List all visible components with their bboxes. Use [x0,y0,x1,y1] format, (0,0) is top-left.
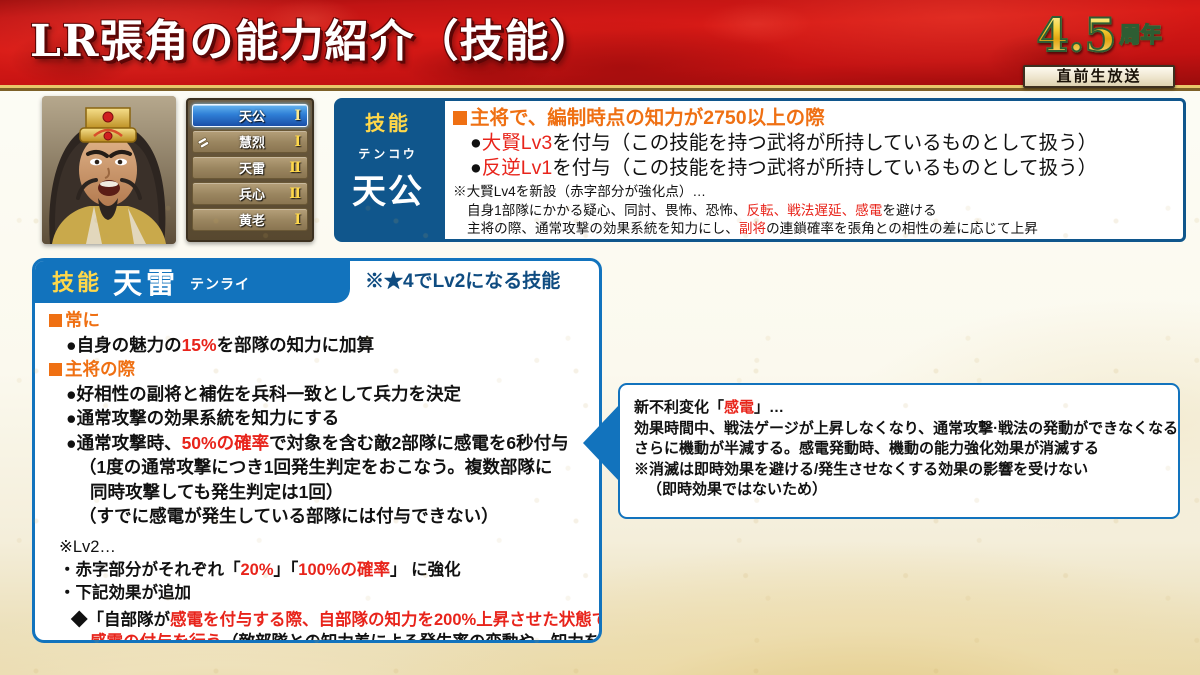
s1-pre: ●自身の魅力の [66,335,182,355]
bullet-dot-icon: ● [470,132,482,154]
tenrai-subtitle: ※★4でLv2になる技能 [365,267,560,297]
skill-list-item-kourou[interactable]: 黄老 Ⅰ [192,208,308,231]
orange-square-icon [453,111,467,125]
portrait-illustration [42,96,176,244]
tenrai-kana: テンライ [190,274,250,294]
tenkou-note-3-red: 副将 [739,221,766,236]
s2c-red: 50%の確率 [182,433,270,453]
skill-name: 慧烈 [193,132,307,151]
tenrai-diamond-line-2: 感電の付与を行う（敵部隊との知力差による発生率の変動や、知力を条件 [49,631,589,643]
tenkou-bullet-2-rest: を付与（この技能を持つ武将が所持しているものとして扱う） [552,157,1097,179]
tenkou-detail-panel: 主将で、編制時点の知力が2750以上の際 ●大賢Lv3を付与（この技能を持つ武将… [442,98,1186,242]
tenrai-section2-line-3: ●通常攻撃時、50%の確率で対象を含む敵2部隊に感電を6秒付与 [49,431,589,456]
kanden-1-post: 」… [754,399,784,416]
dl2-post: （敵部隊との知力差による発生率の変動や、知力を条件 [222,633,602,643]
tenkou-note-2b: を避ける [882,203,936,218]
tenkou-note-2: 自身1部隊にかかる疑心、同討、畏怖、恐怖、反転、戦法遅延、感電を避ける [453,202,1175,221]
kanden-1-pre: 新不利変化「 [634,399,724,416]
page-title: LR張角の能力紹介（技能） [30,11,595,73]
skill-level: Ⅱ [289,160,300,176]
anniversary-subtitle: 直前生放送 [1023,65,1175,88]
lv2a-mid: 」「 [274,561,299,579]
tenkou-kana: テンコウ [358,145,418,162]
kanden-line-1: 新不利変化「感電」… [634,398,1178,419]
skill-list[interactable]: 天公 Ⅰ 慧烈 Ⅰ 天雷 Ⅱ 兵心 Ⅱ 黄老 Ⅰ [186,98,314,242]
skill-level: Ⅰ [294,212,300,228]
anniversary-kanji: 周年 [1120,24,1162,46]
skill-level: Ⅰ [294,108,300,124]
tenkou-bullet-1-rest: を付与（この技能を持つ武将が所持しているものとして扱う） [552,132,1097,154]
skill-list-item-tenrai[interactable]: 天雷 Ⅱ [192,156,308,179]
skill-level: Ⅰ [294,134,300,150]
lv2a-pre: ・赤字部分がそれぞれ「 [59,561,241,579]
tenrai-detail-panel: 技能 天雷 テンライ ※★4でLv2になる技能 常に ●自身の魅力の15%を部隊… [32,258,602,643]
dl1-pre: ◆「自部隊が [71,611,170,629]
tenkou-note-3: 主将の際、通常攻撃の効果系統を知力にし、副将の連鎖確率を張角との相性の差に応じて… [453,220,1175,239]
tenrai-section1-head-row: 常に [49,308,589,333]
skill-list-item-tenkou[interactable]: 天公 Ⅰ [192,104,308,127]
tenrai-lv2-line-2: ・下記効果が追加 [49,582,589,605]
kanden-line-3: さらに機動が半減する。感電発動時、機動の能力強化効果が消滅する [634,439,1178,460]
slide-root: LR張角の能力紹介（技能） 4.5 周年 直前生放送 [0,0,1200,675]
tenrai-header: 技能 天雷 テンライ [32,258,350,303]
s2b-pre: ●通常攻撃の効果系統を知力にする [66,408,339,428]
kanden-line-5: （即時効果ではないため） [634,480,1178,501]
scroll-icon [197,136,210,148]
s2c-post: で対象を含む敵2部隊に感電を6秒付与 [269,433,568,453]
tenkou-note-3a: 主将の際、通常攻撃の効果系統を知力にし、 [467,221,739,236]
tenrai-section1-line-1: ●自身の魅力の15%を部隊の知力に加算 [49,333,589,358]
tenrai-section2-line-2: ●通常攻撃の効果系統を知力にする [49,406,589,431]
kanden-line-4: ※消滅は即時効果を避ける/発生させなくする効果の影響を受けない [634,460,1178,481]
dl1-red: 感電を付与する際、自部隊の知力を200%上昇させた状態で [170,611,602,629]
tenrai-diamond-line-1: ◆「自部隊が感電を付与する際、自部隊の知力を200%上昇させた状態で [49,609,589,632]
tenkou-bullet-2-red: 反逆Lv1 [482,157,552,179]
tenkou-heading-row: 主将で、編制時点の知力が2750以上の際 [453,106,1175,131]
tenrai-section2-sub-2: 同時攻撃しても発生判定は1回） [49,480,589,505]
skill-name: 黄老 [193,210,307,229]
tenkou-heading: 主将で、編制時点の知力が2750以上の際 [470,106,825,131]
lv2a-red2: 100%の確率 [298,561,390,579]
tenrai-section2-sub-1: （1度の通常攻撃につき1回発生判定をおこなう。複数部隊に [49,455,589,480]
tenkou-note-3b: の連鎖確率を張角との相性の差に応じて上昇 [766,221,1038,236]
orange-square-icon [49,363,62,376]
orange-square-icon [49,314,62,327]
skill-level: Ⅱ [289,186,300,202]
tenrai-name: 天雷 [113,260,179,302]
tenkou-skill-tag: 技能 テンコウ 天公 [334,98,442,242]
tenkou-name: 天公 [352,164,424,213]
s2a-pre: ●好相性の副将と補佐を兵科一致として兵力を決定 [66,384,461,404]
left-arrow-icon [583,405,619,481]
bullet-dot-icon: ● [470,157,482,179]
tenrai-lv2-line-1: ・赤字部分がそれぞれ「20%」「100%の確率」 に強化 [49,559,589,582]
lv2a-post: 」 に強化 [390,561,461,579]
tenrai-section2-head-row: 主将の際 [49,357,589,382]
tenrai-lv2-head: ※Lv2… [49,536,589,559]
tenrai-body: 常に ●自身の魅力の15%を部隊の知力に加算 主将の際 ●好相性の副将と補佐を兵… [35,306,599,640]
skill-name: 天公 [193,106,307,125]
s1-red: 15% [182,335,217,355]
kanden-1-red: 感電 [724,399,754,416]
tenrai-section2-sub-3: （すでに感電が発生している部隊には付与できない） [49,504,589,529]
tenkou-bullet-1: ●大賢Lv3を付与（この技能を持つ武将が所持しているものとして扱う） [453,131,1175,156]
skill-list-item-keiretsu[interactable]: 慧烈 Ⅰ [192,130,308,153]
tenkou-note-2a: 自身1部隊にかかる疑心、同討、畏怖、恐怖、 [467,203,746,218]
skill-list-item-heishin[interactable]: 兵心 Ⅱ [192,182,308,205]
lv2a-red1: 20% [241,561,274,579]
s2c-pre: ●通常攻撃時、 [66,433,182,453]
tenrai-tag-label: 技能 [52,265,102,297]
kanden-callout-box: 新不利変化「感電」… 効果時間中、戦法ゲージが上昇しなくなり、通常攻撃·戦法の発… [618,383,1180,519]
s1-post: を部隊の知力に加算 [217,335,375,355]
tenkou-note-2-red: 反転、戦法遅延、感電 [746,203,882,218]
character-portrait [42,96,176,244]
tenkou-tag-label: 技能 [365,107,411,136]
dl2-red: 感電の付与を行う [90,633,222,643]
kanden-line-2: 効果時間中、戦法ゲージが上昇しなくなり、通常攻撃·戦法の発動ができなくなる [634,419,1178,440]
tenkou-bullet-2: ●反逆Lv1を付与（この技能を持つ武将が所持しているものとして扱う） [453,156,1175,181]
tenkou-bullet-1-red: 大賢Lv3 [482,132,552,154]
tenrai-section2-head: 主将の際 [65,357,135,382]
anniversary-logo: 4.5 周年 直前生放送 [1008,6,1190,94]
anniversary-number: 4.5 [1036,11,1116,59]
tenrai-section1-head: 常に [65,308,100,333]
anniversary-main: 4.5 周年 [1008,6,1190,64]
tenkou-note-1: ※大賢Lv4を新設（赤字部分が強化点）… [453,183,1175,202]
tenrai-section2-line-1: ●好相性の副将と補佐を兵科一致として兵力を決定 [49,382,589,407]
